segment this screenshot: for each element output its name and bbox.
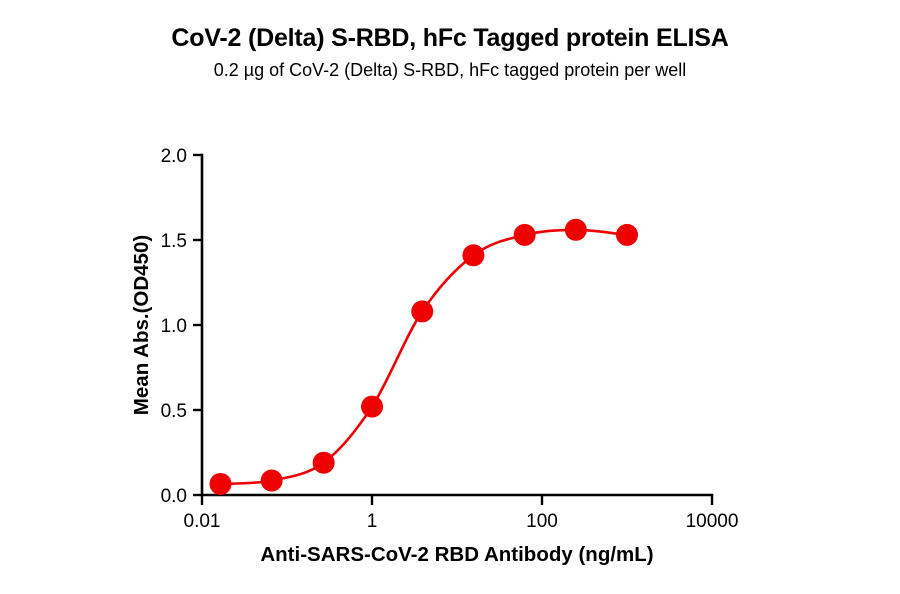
data-point-marker [514,224,536,246]
plot-area: 0.00.51.01.52.00.01110010000Anti-SARS-Co… [0,0,900,594]
axis-spines [202,155,712,495]
data-point-marker [411,300,433,322]
x-axis-tick-label: 100 [526,511,558,532]
y-axis-title: Mean Abs.(OD450) [130,235,153,415]
data-point-marker [462,244,484,266]
x-axis-tick-label: 0.01 [184,511,221,532]
y-axis-tick-label: 0.5 [161,401,187,422]
y-axis-tick-label: 0.0 [161,486,187,507]
data-point-marker [616,224,638,246]
data-point-marker [261,470,283,492]
chart-canvas: 0.00.51.01.52.00.01110010000Anti-SARS-Co… [0,0,900,594]
series-fit-curve [220,230,627,484]
x-axis-tick-label: 1 [367,511,378,532]
data-point-marker [209,473,231,495]
data-point-marker [313,452,335,474]
elisa-chart-figure: CoV-2 (Delta) S-RBD, hFc Tagged protein … [0,0,900,594]
y-axis-tick-label: 2.0 [161,146,187,167]
data-point-marker [565,219,587,241]
data-point-marker [361,396,383,418]
y-axis-tick-label: 1.0 [161,316,187,337]
x-axis-title: Anti-SARS-CoV-2 RBD Antibody (ng/mL) [260,543,653,566]
x-axis-tick-label: 10000 [686,511,739,532]
y-axis-tick-label: 1.5 [161,231,187,252]
